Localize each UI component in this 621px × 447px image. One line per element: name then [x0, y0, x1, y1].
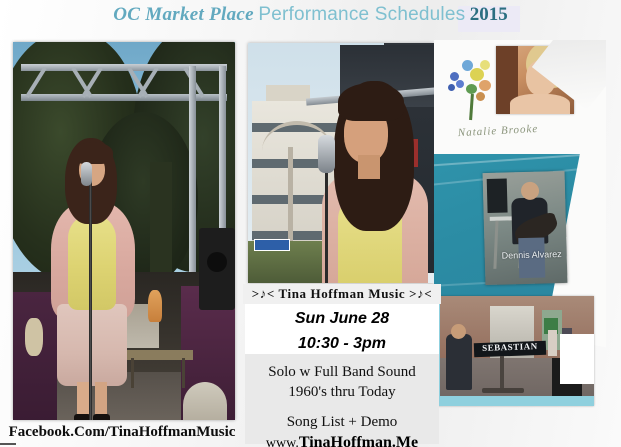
- photo-street-keyboard-performer: SEBASTIAN: [434, 296, 594, 406]
- performance-time: 10:30 - 3pm: [245, 331, 439, 356]
- flower-illustration: [446, 54, 496, 106]
- portrait-face: [526, 60, 556, 96]
- tree-trunk: [150, 162, 172, 282]
- description-panel: Solo w Full Band Sound 1960's thru Today…: [245, 354, 439, 444]
- page-title: OC Market Place Performance Schedules 20…: [0, 4, 621, 34]
- stage-table-legs: [131, 358, 185, 388]
- performer-hair-front: [73, 142, 113, 164]
- performance-info-block: >♪< Tina Hoffman Music >♪< Sun June 28 1…: [243, 284, 441, 444]
- description-line-3: Song List + Demo: [245, 412, 439, 432]
- keyboard-player-body: [446, 334, 472, 390]
- performer-top: [68, 214, 116, 310]
- photo-singer-on-outdoor-stage: [13, 42, 235, 420]
- stage-speaker: [199, 228, 235, 310]
- stage-truss-bottom: [21, 94, 227, 101]
- artist-name-header: >♪< Tina Hoffman Music >♪<: [243, 284, 441, 304]
- title-year: 2015: [470, 4, 508, 25]
- stage-truss-top: [21, 64, 227, 71]
- performer-hair-front: [338, 83, 404, 121]
- microphone-stand: [325, 169, 328, 283]
- photo-singer-closeup-at-microphone: [248, 43, 434, 283]
- right-photo-collage: Natalie Brooke Dennis Alvarez: [434, 40, 606, 424]
- white-overlay-patch: [560, 334, 594, 384]
- flyer-page: OC Market Place Performance Schedules 20…: [0, 0, 621, 447]
- footer-rule: [0, 443, 16, 445]
- keyboard-stand-foot: [482, 388, 524, 393]
- performer-boot: [93, 414, 110, 420]
- portrait-photo: [496, 46, 574, 114]
- pedestrian: [548, 330, 557, 356]
- stone-urn: [183, 382, 227, 420]
- portrait-shoulders: [510, 94, 570, 114]
- website-link[interactable]: www.TinaHoffman.Me: [245, 432, 439, 447]
- keyboard-brand-label: SEBASTIAN: [476, 341, 544, 357]
- traffic-cone: [148, 290, 162, 322]
- amplifier: [487, 178, 508, 213]
- description-line-2: 1960's thru Today: [245, 382, 439, 402]
- website-domain: TinaHoffman.Me: [299, 434, 418, 447]
- title-subject: Performance Schedules: [258, 4, 465, 25]
- photo-guitarist: Dennis Alvarez: [483, 171, 568, 285]
- performance-date: Sun June 28: [245, 304, 439, 331]
- microphone-stand: [89, 178, 92, 420]
- keyboard-stand: [500, 356, 504, 390]
- title-venue: OC Market Place: [113, 4, 254, 25]
- date-time-panel: Sun June 28 10:30 - 3pm: [245, 304, 439, 354]
- truss-post: [189, 66, 196, 276]
- microphone: [81, 162, 92, 186]
- facebook-link[interactable]: Facebook.Com/TinaHoffmanMusic: [2, 424, 242, 444]
- description-line-1: Solo w Full Band Sound: [245, 354, 439, 382]
- flower-stem: [469, 94, 474, 120]
- performer-neck: [358, 155, 380, 179]
- signature-text: Natalie Brooke: [458, 121, 579, 147]
- website-prefix: www.: [266, 436, 299, 447]
- photo-caption-dennis-alvarez: Dennis Alvarez: [497, 249, 567, 265]
- teal-border-bottom: [434, 396, 594, 406]
- street-sign: [254, 239, 290, 251]
- guitar-neck: [25, 318, 43, 356]
- performer-skirt: [57, 304, 127, 386]
- keyboard-player-head: [451, 324, 466, 339]
- stage-drape-left: [13, 292, 57, 420]
- microphone: [318, 135, 335, 173]
